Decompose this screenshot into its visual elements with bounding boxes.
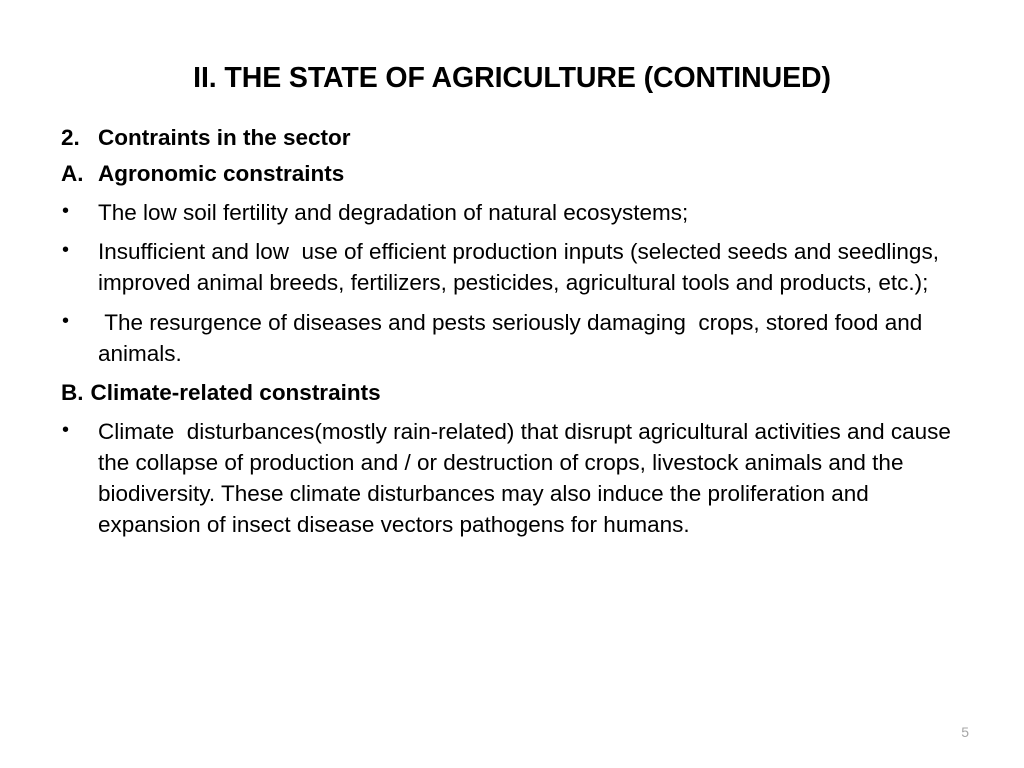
list-item-text: The resurgence of diseases and pests ser… — [98, 307, 973, 369]
bullet-icon: • — [56, 307, 98, 336]
heading-section-2-label: Contraints in the sector — [98, 122, 976, 153]
heading-subsection-a-marker: A. — [56, 158, 98, 189]
heading-subsection-b: B. Climate-related constraints — [56, 377, 976, 408]
list-item-text: The low soil fertility and degradation o… — [98, 197, 973, 228]
bullet-icon: • — [56, 197, 98, 226]
heading-subsection-b-label: Climate-related constraints — [91, 377, 977, 408]
list-item: • Insufficient and low use of efficient … — [56, 236, 976, 298]
list-item: • The low soil fertility and degradation… — [56, 197, 976, 228]
heading-subsection-a: A. Agronomic constraints — [56, 158, 976, 189]
slide: II. THE STATE OF AGRICULTURE (CONTINUED)… — [0, 0, 1024, 768]
page-title: II. THE STATE OF AGRICULTURE (CONTINUED) — [0, 62, 1024, 95]
slide-body: 2. Contraints in the sector A. Agronomic… — [56, 122, 976, 543]
bullet-icon: • — [56, 236, 98, 265]
list-item: • The resurgence of diseases and pests s… — [56, 307, 976, 369]
heading-section-2: 2. Contraints in the sector — [56, 122, 976, 153]
heading-subsection-a-label: Agronomic constraints — [98, 158, 976, 189]
list-item-text: Climate disturbances(mostly rain-related… — [98, 416, 973, 541]
list-item-text: Insufficient and low use of efficient pr… — [98, 236, 973, 298]
heading-section-2-marker: 2. — [56, 122, 98, 153]
list-item: • Climate disturbances(mostly rain-relat… — [56, 416, 976, 541]
page-number: 5 — [961, 724, 969, 740]
heading-subsection-b-marker: B. — [56, 377, 91, 408]
bullet-icon: • — [56, 416, 98, 445]
